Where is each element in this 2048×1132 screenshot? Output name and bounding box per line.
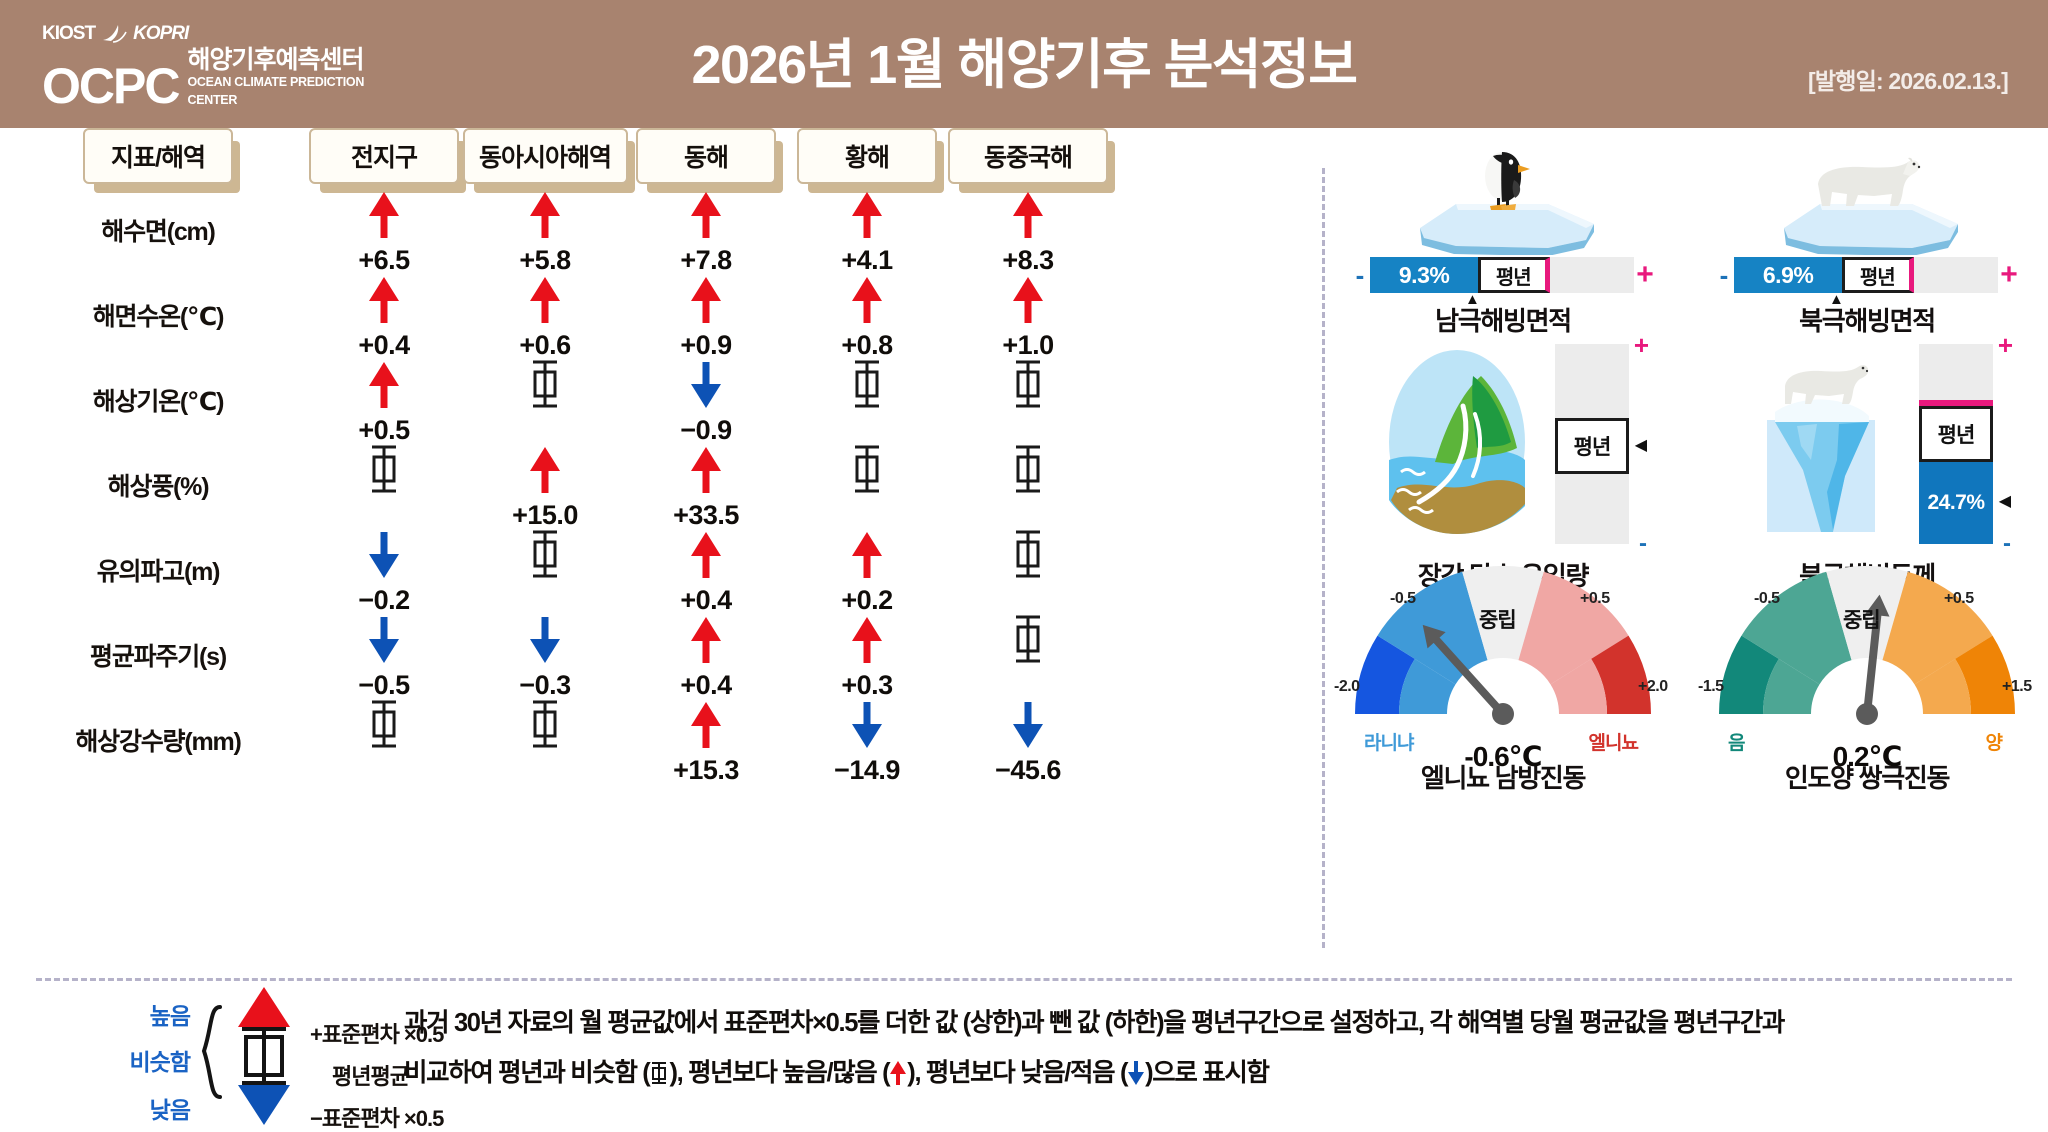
cell-trend-icon xyxy=(616,528,796,580)
cell-trend-icon xyxy=(455,358,635,410)
cell-value: −0.3 xyxy=(455,669,635,701)
cell-value xyxy=(455,414,635,446)
gauge-tick-low: -0.5 xyxy=(1754,590,1780,608)
table-cell: +33.5 xyxy=(616,443,796,531)
cell-trend-icon xyxy=(938,358,1118,410)
legend-low-label: 낮음 xyxy=(70,1091,190,1125)
up-arrow-icon xyxy=(1011,190,1045,240)
cell-value: +0.8 xyxy=(777,329,957,361)
bar-pointer-icon: ▲ xyxy=(1465,292,1480,307)
up-arrow-icon xyxy=(850,190,884,240)
cell-value: −0.2 xyxy=(294,584,474,616)
up-arrow-icon xyxy=(689,530,723,580)
gauge-tick-high: +0.5 xyxy=(1944,590,1974,608)
gauge-tick-low: -0.5 xyxy=(1390,590,1416,608)
cell-trend-icon xyxy=(616,358,796,410)
gauge-tick-high: +0.5 xyxy=(1580,590,1610,608)
gauge-center-label: 중립 xyxy=(1843,604,1880,634)
bar-minus-label: - xyxy=(1714,260,1734,291)
cell-trend-icon xyxy=(294,358,474,410)
cell-value: −14.9 xyxy=(777,754,957,786)
card-arctic-sea-ice: - 6.9% 평년 ▲ + 북극해빙면적 xyxy=(1702,150,2032,338)
gauge-tick-min: -1.5 xyxy=(1698,678,1724,696)
cell-trend-icon xyxy=(777,528,957,580)
neutral-range-icon xyxy=(528,698,562,750)
table-cell: +1.0 xyxy=(938,273,1118,361)
card-caption: 북극해빙면적 xyxy=(1702,301,2032,338)
up-arrow-icon xyxy=(367,360,401,410)
neutral-range-icon xyxy=(367,698,401,750)
cell-trend-icon xyxy=(777,358,957,410)
up-arrow-icon xyxy=(1011,275,1045,325)
cell-trend-icon xyxy=(294,698,474,750)
table-cell: +0.2 xyxy=(777,528,957,616)
gauge-value: -0.6℃ xyxy=(1338,740,1668,773)
bar-track: 6.9% 평년 ▲ xyxy=(1734,257,1998,293)
right-panel: - 9.3% 평년 ▲ + 남극해빙면적 xyxy=(1322,128,2048,968)
horizontal-divider xyxy=(36,978,2012,981)
bar-track: 9.3% 평년 ▲ xyxy=(1370,257,1634,293)
iceberg-polar-bear-icon xyxy=(1741,342,1901,547)
table-cell: +4.1 xyxy=(777,188,957,276)
gauge-center-label: 중립 xyxy=(1479,604,1516,634)
changjiang-vertical-gauge: 평년 + - ◀ xyxy=(1555,344,1629,544)
table-row-label: 유의파고(m) xyxy=(43,552,273,588)
up-arrow-inline-icon xyxy=(889,1054,907,1104)
gauge-normal-band: 평년 xyxy=(1919,406,1993,462)
table-header-region-5: 동중국해 xyxy=(948,128,1108,184)
cell-trend-icon xyxy=(294,613,474,665)
enso-dial: -2.0-0.5+0.5+2.0중립라니냐엘니뇨-0.6℃ xyxy=(1338,552,1668,752)
cell-trend-icon xyxy=(777,188,957,240)
up-arrow-icon xyxy=(850,275,884,325)
cell-trend-icon xyxy=(294,273,474,325)
explanation-part-a: 비교하여 평년과 비슷함 ( xyxy=(404,1059,649,1087)
table-cell: +0.4 xyxy=(294,273,474,361)
table-cell: +7.8 xyxy=(616,188,796,276)
table-cell: +0.3 xyxy=(777,613,957,701)
table-row-label: 해상강수량(mm) xyxy=(43,722,273,758)
legend-lower-bound: −표준편차 ×0.5 xyxy=(310,1101,443,1132)
cell-value: −0.9 xyxy=(616,414,796,446)
cell-value: +15.0 xyxy=(455,499,635,531)
up-arrow-icon xyxy=(689,700,723,750)
up-arrow-icon xyxy=(689,275,723,325)
table-cell: +0.8 xyxy=(777,273,957,361)
table-header-region-3: 동해 xyxy=(636,128,776,184)
river-landscape-icon xyxy=(1377,342,1537,547)
table-row-label: 해상풍(%) xyxy=(43,467,273,503)
iod-dial: -1.5-0.5+0.5+1.5중립음양0.2℃ xyxy=(1702,552,2032,752)
cell-value xyxy=(777,414,957,446)
table-cell xyxy=(294,443,474,531)
cell-trend-icon xyxy=(616,613,796,665)
cell-trend-icon xyxy=(455,698,635,750)
cell-trend-icon xyxy=(777,273,957,325)
cell-trend-icon xyxy=(455,528,635,580)
legend-high-label: 높음 xyxy=(70,997,190,1031)
page-header: KIOST KOPRI OCPC 해양기후예측센터 OCEAN CLIMATE … xyxy=(0,0,2048,128)
cell-value: +0.4 xyxy=(616,669,796,701)
cell-value xyxy=(938,499,1118,531)
cell-trend-icon xyxy=(616,698,796,750)
down-arrow-icon xyxy=(689,360,723,410)
table-cell xyxy=(777,443,957,531)
cell-value xyxy=(938,669,1118,701)
cell-trend-icon xyxy=(938,188,1118,240)
card-caption: 남극해빙면적 xyxy=(1338,301,1668,338)
antarctic-sea-ice-bar: - 9.3% 평년 ▲ + xyxy=(1350,255,1656,295)
explanation-part-c: ), 평년보다 낮음/적음 ( xyxy=(907,1059,1127,1087)
explanation-line-1: 과거 30년 자료의 월 평균값에서 표준편차×0.5를 더한 값 (상한)과 … xyxy=(404,999,2004,1049)
table-cell: +0.4 xyxy=(616,613,796,701)
bar-plus-label: + xyxy=(1634,258,1656,292)
legend-symbol-icon xyxy=(228,985,300,1132)
down-arrow-icon xyxy=(367,530,401,580)
up-arrow-icon xyxy=(850,530,884,580)
neutral-range-icon xyxy=(1011,613,1045,665)
cell-trend-icon xyxy=(294,528,474,580)
cell-value: −0.5 xyxy=(294,669,474,701)
table-cell xyxy=(455,528,635,616)
cell-trend-icon xyxy=(938,613,1118,665)
cell-value: +0.9 xyxy=(616,329,796,361)
gauge-tick-min: -2.0 xyxy=(1334,678,1360,696)
cell-value: +0.4 xyxy=(616,584,796,616)
cell-trend-icon xyxy=(938,698,1118,750)
neutral-range-icon xyxy=(367,443,401,495)
arctic-sea-ice-bar: - 6.9% 평년 ▲ + xyxy=(1714,255,2020,295)
table-row-label: 해상기온(℃) xyxy=(43,382,273,418)
cell-trend-icon xyxy=(777,613,957,665)
indicator-table: 지표/해역전지구동아시아해역동해황해동중국해 해수면(cm)해면수온(℃)해상기… xyxy=(0,128,1315,968)
down-arrow-inline-icon xyxy=(1127,1054,1145,1104)
neutral-range-icon xyxy=(528,358,562,410)
table-header-region-4: 황해 xyxy=(797,128,937,184)
table-cell: −45.6 xyxy=(938,698,1118,786)
cell-trend-icon xyxy=(616,443,796,495)
table-cell xyxy=(938,358,1118,446)
cell-trend-icon xyxy=(455,443,635,495)
publish-date: [발행일: 2026.02.13.] xyxy=(1808,62,2008,96)
bar-fill: 9.3% xyxy=(1370,257,1478,293)
cell-value: +0.6 xyxy=(455,329,635,361)
card-antarctic-sea-ice: - 9.3% 평년 ▲ + 남극해빙면적 xyxy=(1338,150,1668,338)
bar-plus-label: + xyxy=(1998,258,2020,292)
table-cell: +6.5 xyxy=(294,188,474,276)
legend-area: 높음 비슷함 낮음 +표준편차 ×0.5 평년평균 −표준편차 ×0.5 xyxy=(0,985,2048,1132)
neutral-range-icon xyxy=(850,358,884,410)
cell-value: −45.6 xyxy=(938,754,1118,786)
cell-trend-icon xyxy=(938,528,1118,580)
cell-value: +0.4 xyxy=(294,329,474,361)
up-arrow-icon xyxy=(528,190,562,240)
table-cell: +5.8 xyxy=(455,188,635,276)
table-cell: +0.6 xyxy=(455,273,635,361)
table-cell: −14.9 xyxy=(777,698,957,786)
neutral-range-icon xyxy=(850,443,884,495)
table-header-indicator: 지표/해역 xyxy=(83,128,233,184)
table-cell: −0.3 xyxy=(455,613,635,701)
cell-value: +1.0 xyxy=(938,329,1118,361)
cell-trend-icon xyxy=(616,188,796,240)
cell-trend-icon xyxy=(777,698,957,750)
neutral-symbol-inline-icon xyxy=(649,1054,669,1104)
gauge-pointer-icon: ◀ xyxy=(1999,494,2011,510)
table-cell xyxy=(294,698,474,786)
polar-bear-on-ice-icon xyxy=(1702,150,2032,255)
cell-trend-icon xyxy=(777,443,957,495)
cell-trend-icon xyxy=(938,273,1118,325)
table-cell: +0.9 xyxy=(616,273,796,361)
cell-trend-icon xyxy=(455,273,635,325)
table-row-label: 평균파주기(s) xyxy=(43,637,273,673)
bar-pointer-icon: ▲ xyxy=(1829,292,1844,307)
cell-value xyxy=(938,584,1118,616)
cell-value: +4.1 xyxy=(777,244,957,276)
gauge-tick-max: +2.0 xyxy=(1638,678,1668,696)
cell-value: +0.5 xyxy=(294,414,474,446)
cell-value: +8.3 xyxy=(938,244,1118,276)
up-arrow-icon xyxy=(850,615,884,665)
card-enso-gauge: -2.0-0.5+0.5+2.0중립라니냐엘니뇨-0.6℃ 엘니뇨 남방진동 xyxy=(1338,552,1668,795)
gauge-normal-band: 평년 xyxy=(1555,418,1629,474)
up-arrow-icon xyxy=(367,275,401,325)
legend-explanation: 과거 30년 자료의 월 평균값에서 표준편차×0.5를 더한 값 (상한)과 … xyxy=(404,999,2004,1103)
cell-value: +7.8 xyxy=(616,244,796,276)
neutral-range-icon xyxy=(1011,528,1045,580)
up-arrow-icon xyxy=(689,615,723,665)
table-cell xyxy=(777,358,957,446)
cell-trend-icon xyxy=(455,613,635,665)
cell-trend-icon xyxy=(616,273,796,325)
legend-mean: 평년평균 xyxy=(332,1059,409,1091)
table-header-region-2: 동아시아해역 xyxy=(463,128,628,184)
down-arrow-icon xyxy=(1011,700,1045,750)
down-arrow-icon xyxy=(850,700,884,750)
arctic-thickness-vertical-gauge: 평년 24.7% + - ◀ xyxy=(1919,344,1993,544)
table-cell xyxy=(938,443,1118,531)
table-header-region-1: 전지구 xyxy=(309,128,459,184)
table-cell: −0.9 xyxy=(616,358,796,446)
table-cell: −0.2 xyxy=(294,528,474,616)
up-arrow-icon xyxy=(528,445,562,495)
cell-value xyxy=(294,754,474,786)
down-arrow-icon xyxy=(367,615,401,665)
cell-value xyxy=(777,499,957,531)
explanation-part-b: ), 평년보다 높음/많음 ( xyxy=(669,1059,889,1087)
cell-value: +6.5 xyxy=(294,244,474,276)
bar-fill: 6.9% xyxy=(1734,257,1842,293)
cell-value: +0.3 xyxy=(777,669,957,701)
neutral-range-icon xyxy=(1011,358,1045,410)
explanation-part-d: )으로 표시함 xyxy=(1145,1059,1268,1087)
bar-normal-band: 평년 xyxy=(1842,257,1914,293)
cell-value: +33.5 xyxy=(616,499,796,531)
cell-value xyxy=(294,499,474,531)
up-arrow-icon xyxy=(689,445,723,495)
table-row-label: 해면수온(℃) xyxy=(43,297,273,333)
cell-value: +0.2 xyxy=(777,584,957,616)
table-cell: +0.4 xyxy=(616,528,796,616)
table-cell: −0.5 xyxy=(294,613,474,701)
cell-trend-icon xyxy=(455,188,635,240)
table-cell xyxy=(938,528,1118,616)
gauge-plus-label: + xyxy=(1998,330,2013,361)
penguin-on-ice-icon xyxy=(1338,150,1668,255)
cell-value xyxy=(455,584,635,616)
table-cell: +15.0 xyxy=(455,443,635,531)
table-cell: +15.3 xyxy=(616,698,796,786)
cell-trend-icon xyxy=(294,188,474,240)
neutral-range-icon xyxy=(528,528,562,580)
bar-normal-band: 평년 xyxy=(1478,257,1550,293)
legend-similar-label: 비슷함 xyxy=(70,1043,190,1077)
card-iod-gauge: -1.5-0.5+0.5+1.5중립음양0.2℃ 인도양 쌍극진동 xyxy=(1702,552,2032,795)
table-cell xyxy=(455,358,635,446)
bar-minus-label: - xyxy=(1350,260,1370,291)
table-cell xyxy=(455,698,635,786)
table-cell: +0.5 xyxy=(294,358,474,446)
page-title: 2026년 1월 해양기후 분석정보 xyxy=(0,20,2048,99)
gauge-fill: 24.7% xyxy=(1919,462,1993,544)
cell-value: +15.3 xyxy=(616,754,796,786)
cell-value xyxy=(938,414,1118,446)
cell-value xyxy=(455,754,635,786)
cell-trend-icon xyxy=(938,443,1118,495)
table-row-label: 해수면(cm) xyxy=(43,212,273,248)
up-arrow-icon xyxy=(367,190,401,240)
neutral-range-icon xyxy=(1011,443,1045,495)
down-arrow-icon xyxy=(528,615,562,665)
gauge-value: 0.2℃ xyxy=(1702,740,2032,773)
gauge-pointer-icon: ◀ xyxy=(1635,438,1647,454)
gauge-plus-label: + xyxy=(1634,330,1649,361)
table-cell xyxy=(938,613,1118,701)
explanation-line-2: 비교하여 평년과 비슷함 (), 평년보다 높음/많음 (), 평년보다 낮음/… xyxy=(404,1049,2004,1104)
cell-value: +5.8 xyxy=(455,244,635,276)
gauge-tick-max: +1.5 xyxy=(2002,678,2032,696)
legend-brace-icon xyxy=(198,1005,224,1106)
up-arrow-icon xyxy=(689,190,723,240)
table-cell: +8.3 xyxy=(938,188,1118,276)
up-arrow-icon xyxy=(528,275,562,325)
cell-trend-icon xyxy=(294,443,474,495)
